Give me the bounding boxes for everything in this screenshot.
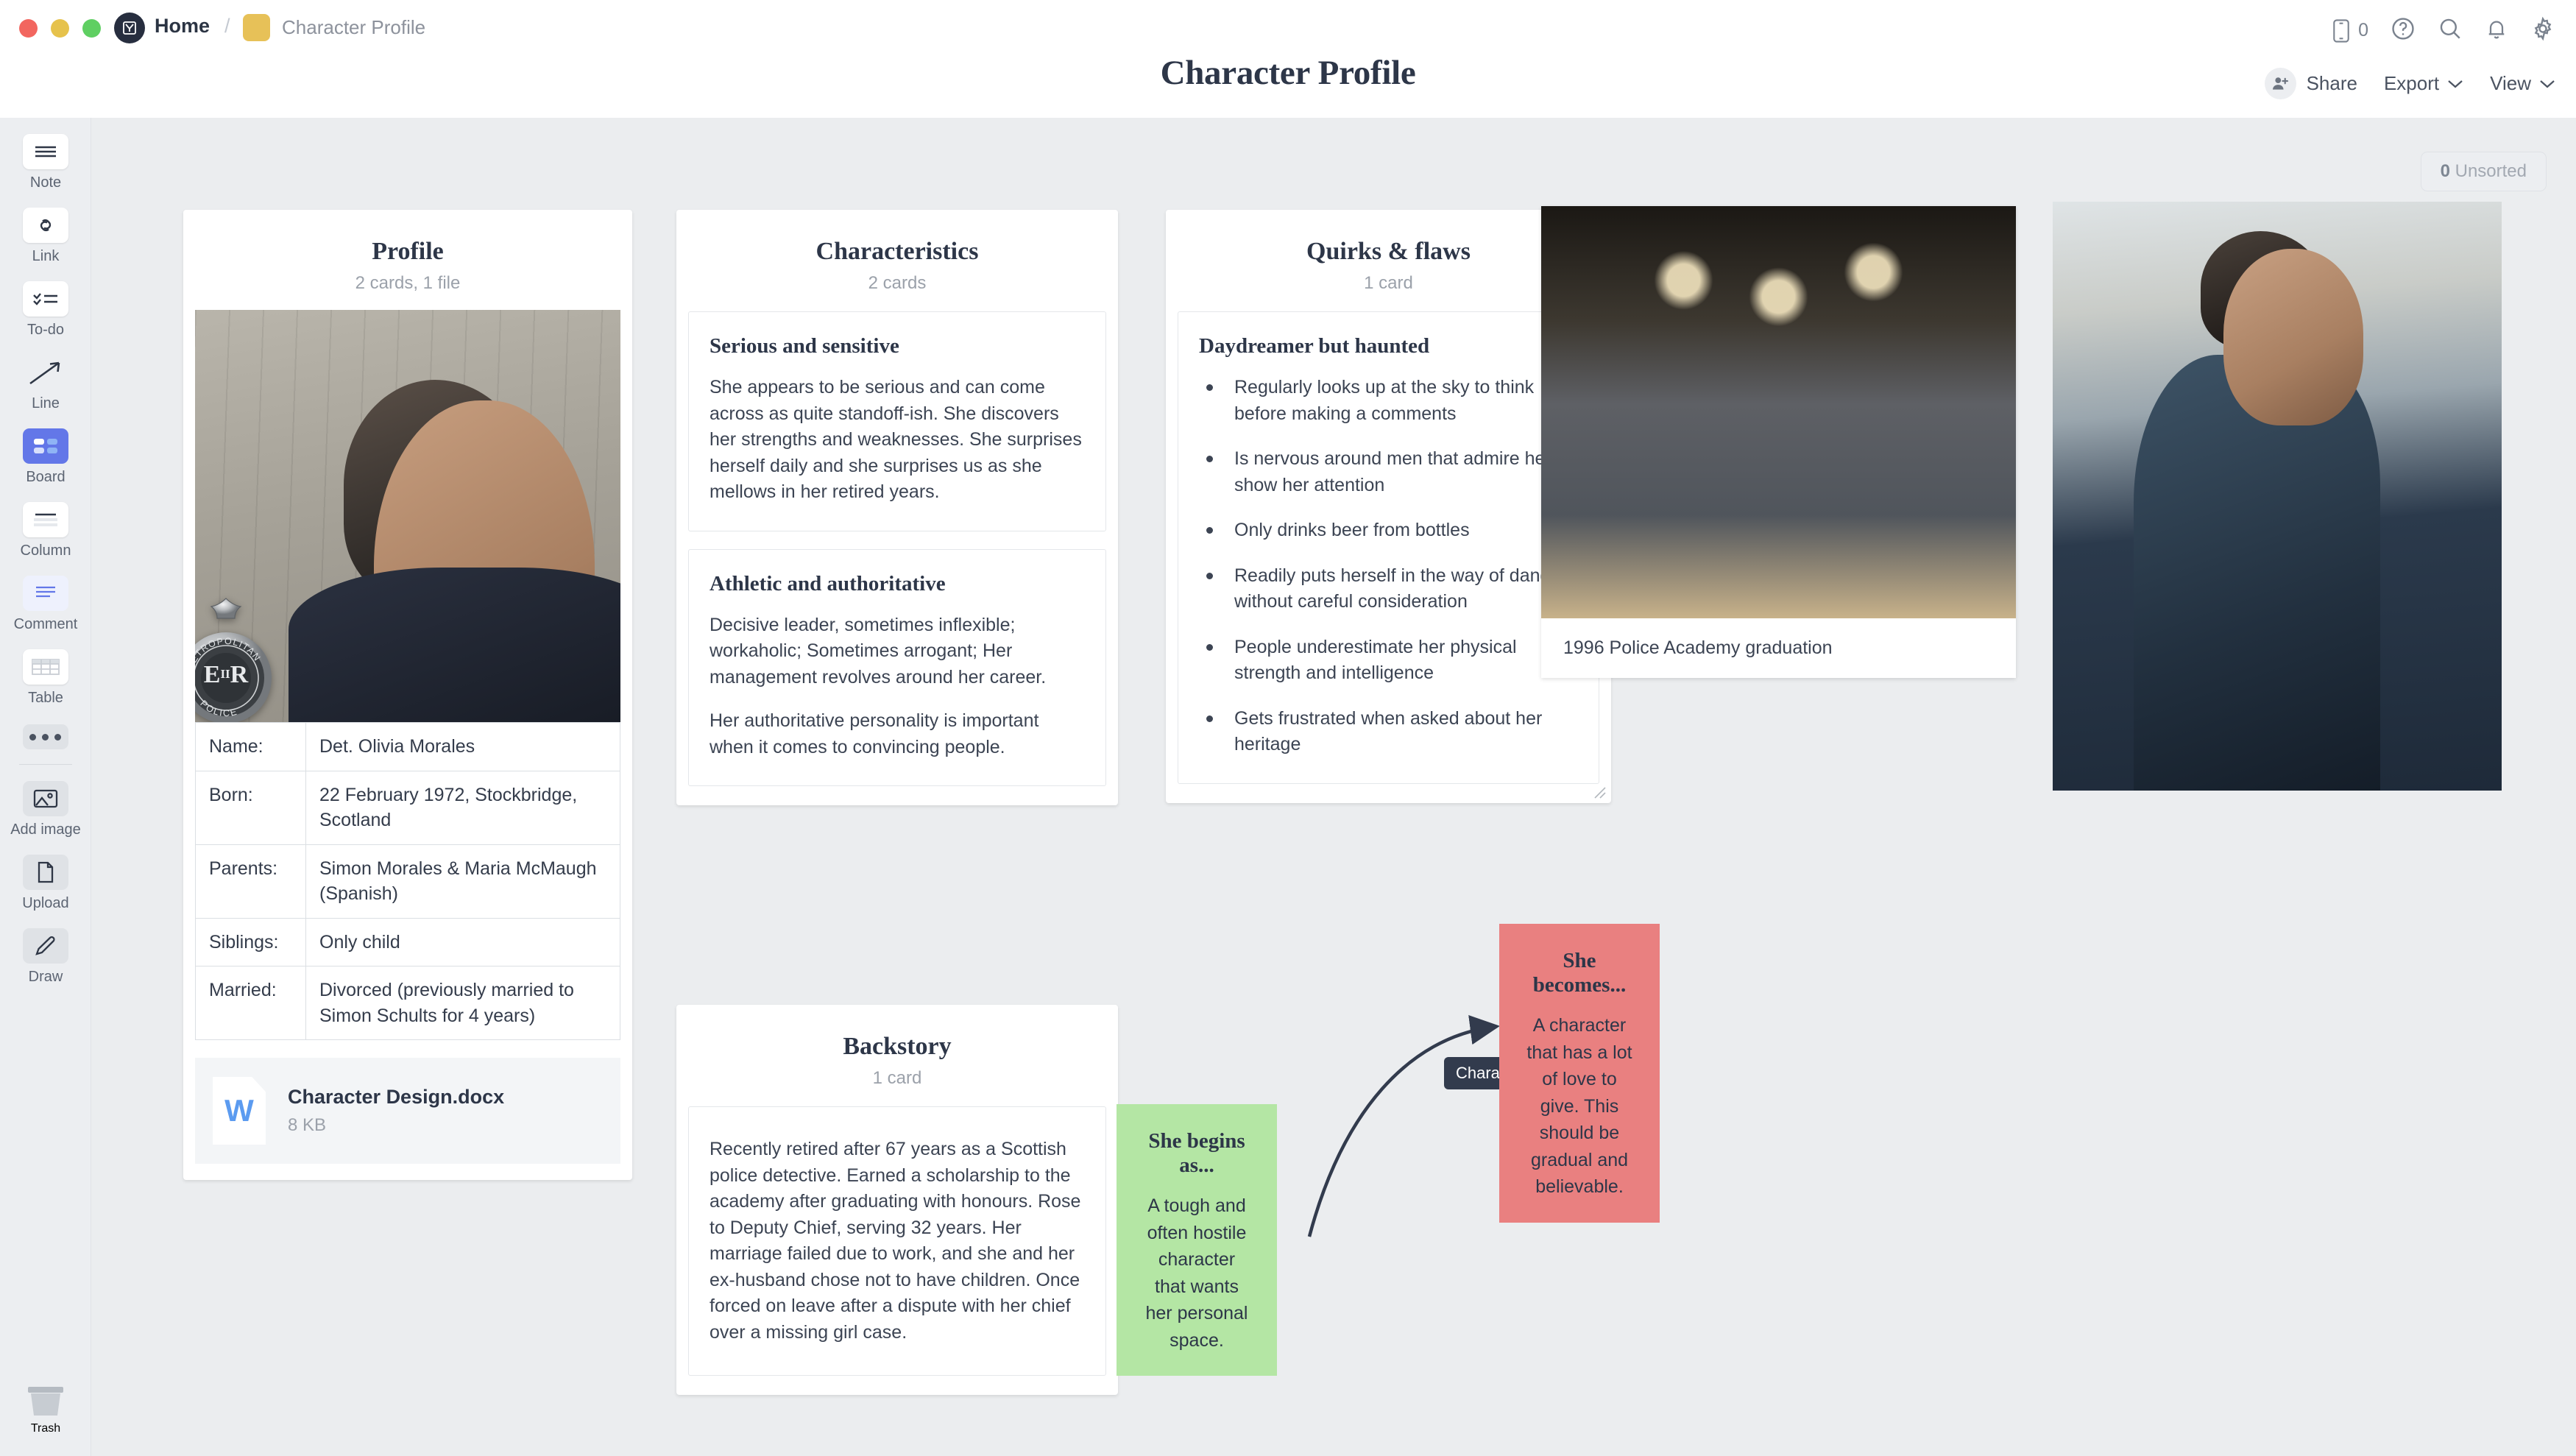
sidebar-label: Column <box>21 543 71 559</box>
pencil-icon <box>23 928 68 964</box>
column-header: Profile 2 cards, 1 file <box>183 210 632 294</box>
sidebar-item-trash[interactable]: Trash <box>0 1382 91 1435</box>
mobile-preview-icon[interactable]: 0 <box>2330 18 2368 43</box>
file-upload-icon <box>23 855 68 890</box>
todo-icon <box>23 281 68 317</box>
line-arrow-icon <box>23 355 68 390</box>
sidebar-item-board[interactable]: Board <box>0 428 91 486</box>
list-item: Is nervous around men that admire her or… <box>1199 446 1578 498</box>
minimize-window-button[interactable] <box>51 19 69 38</box>
column-title: Characteristics <box>676 238 1118 266</box>
photo-shape-uniform <box>289 568 620 722</box>
add-person-icon <box>2265 68 2296 99</box>
page-title: Character Profile <box>0 53 2576 93</box>
sticky-title: She becomes... <box>1524 949 1635 997</box>
sidebar-item-table[interactable]: Table <box>0 649 91 707</box>
trash-label: Trash <box>31 1422 60 1435</box>
sidebar-label: Add image <box>10 821 81 838</box>
image-caption: 1996 Police Academy graduation <box>1541 618 2016 678</box>
sidebar-label: Table <box>28 690 63 707</box>
profile-photo[interactable]: EIIR METROPOLITAN POLICE <box>195 310 620 722</box>
sidebar-item-upload[interactable]: Upload <box>0 855 91 912</box>
sticky-note-she-begins[interactable]: She begins as... A tough and often hosti… <box>1117 1104 1277 1376</box>
search-icon[interactable] <box>2438 16 2463 45</box>
file-name: Character Design.docx <box>288 1086 504 1109</box>
chevron-down-icon <box>2447 79 2463 89</box>
graduation-photo <box>1541 206 2016 618</box>
sidebar-label: To-do <box>27 322 64 339</box>
profile-table: Name: Det. Olivia Morales Born: 22 Febru… <box>195 722 620 1040</box>
left-toolbar: Note Link To-do <box>0 118 91 1456</box>
dot <box>54 734 61 741</box>
table-value[interactable]: 22 February 1972, Stockbridge, Scotland <box>306 771 620 844</box>
list-item: People underestimate her physical streng… <box>1199 635 1578 687</box>
table-key: Married: <box>196 966 306 1040</box>
note-card-paragraph: Decisive leader, sometimes inflexible; w… <box>710 612 1085 691</box>
sticky-body: A tough and often hostile character that… <box>1142 1192 1252 1354</box>
sidebar-item-add-image[interactable]: Add image <box>0 781 91 838</box>
sidebar-label: Upload <box>22 895 68 912</box>
note-icon <box>23 134 68 169</box>
table-row: Parents: Simon Morales & Maria McMaugh (… <box>196 844 620 918</box>
table-key: Parents: <box>196 844 306 918</box>
sidebar-label: Link <box>32 248 60 265</box>
trash-icon <box>24 1382 67 1422</box>
column-icon <box>23 502 68 537</box>
sidebar-item-todo[interactable]: To-do <box>0 281 91 339</box>
table-value[interactable]: Det. Olivia Morales <box>306 723 620 771</box>
table-row: Born: 22 February 1972, Stockbridge, Sco… <box>196 771 620 844</box>
sidebar-item-line[interactable]: Line <box>0 355 91 412</box>
sidebar-label: Line <box>32 395 60 412</box>
list-item: Gets frustrated when asked about her her… <box>1199 706 1578 758</box>
metropolitan-police-badge-icon: EIIR METROPOLITAN POLICE <box>195 590 285 722</box>
note-card[interactable]: Recently retired after 67 years as a Sco… <box>688 1106 1106 1376</box>
header-action-group: Share Export View <box>2265 68 2555 99</box>
help-icon[interactable] <box>2391 16 2416 45</box>
close-window-button[interactable] <box>19 19 38 38</box>
table-key: Siblings: <box>196 918 306 966</box>
sticky-title: She begins as... <box>1142 1129 1252 1178</box>
column-title: Backstory <box>676 1033 1118 1061</box>
sidebar-label: Note <box>30 174 61 191</box>
list-item: Only drinks beer from bottles <box>1199 517 1578 544</box>
table-key: Born: <box>196 771 306 844</box>
note-card-paragraph: Her authoritative personality is importa… <box>710 708 1085 760</box>
breadcrumb-color-swatch <box>243 14 270 41</box>
view-label: View <box>2490 72 2531 95</box>
sidebar-item-note[interactable]: Note <box>0 134 91 191</box>
list-item: Regularly looks up at the sky to think b… <box>1199 375 1578 427</box>
column-backstory[interactable]: Backstory 1 card Recently retired after … <box>676 1005 1118 1395</box>
note-card-title: Serious and sensitive <box>710 334 1085 358</box>
photo-shape-head <box>2223 249 2363 425</box>
sticky-body: A character that has a lot of love to gi… <box>1524 1012 1635 1201</box>
chevron-down-icon <box>2539 79 2555 89</box>
file-size: 8 KB <box>288 1115 504 1136</box>
word-document-icon: W <box>213 1077 266 1145</box>
sidebar-label: Draw <box>29 969 63 986</box>
column-header: Characteristics 2 cards <box>676 210 1118 294</box>
comment-icon <box>23 576 68 611</box>
unsorted-badge[interactable]: 0 Unsorted <box>2421 152 2547 191</box>
breadcrumb-home[interactable]: Home <box>155 15 210 38</box>
note-card-title: Athletic and authoritative <box>710 572 1085 596</box>
list-item: Readily puts herself in the way of dange… <box>1199 563 1578 615</box>
column-header: Backstory 1 card <box>676 1005 1118 1089</box>
share-button[interactable]: Share <box>2265 68 2357 99</box>
column-title: Profile <box>183 238 632 266</box>
officer-photo <box>2053 202 2502 791</box>
file-attachment[interactable]: W Character Design.docx 8 KB <box>195 1058 620 1164</box>
header-icon-group: 0 <box>2330 16 2555 45</box>
sidebar-item-draw[interactable]: Draw <box>0 928 91 986</box>
note-card[interactable]: Athletic and authoritative Decisive lead… <box>688 549 1106 787</box>
device-count: 0 <box>2358 20 2368 41</box>
table-value[interactable]: Divorced (previously married to Simon Sc… <box>306 966 620 1040</box>
table-value[interactable]: Only child <box>306 918 620 966</box>
column-subtitle: 2 cards <box>676 273 1118 294</box>
note-card[interactable]: Daydreamer but haunted Regularly looks u… <box>1178 311 1599 784</box>
view-dropdown[interactable]: View <box>2490 72 2555 95</box>
table-row: Siblings: Only child <box>196 918 620 966</box>
dot <box>42 734 49 741</box>
column-subtitle: 1 card <box>676 1068 1118 1089</box>
maximize-window-button[interactable] <box>82 19 101 38</box>
image-card-officer[interactable] <box>2053 202 2502 791</box>
app-window: Home / Character Profile Character Profi… <box>0 0 2576 1456</box>
share-label: Share <box>2307 72 2357 95</box>
bullet-list: Regularly looks up at the sky to think b… <box>1199 375 1578 758</box>
window-traffic-lights <box>19 19 101 38</box>
note-card-title: Daydreamer but haunted <box>1199 334 1578 358</box>
column-profile[interactable]: Profile 2 cards, 1 file <box>183 210 632 1180</box>
resize-handle[interactable] <box>1590 783 1607 799</box>
sidebar-item-link[interactable]: Link <box>0 208 91 265</box>
table-row: Married: Divorced (previously married to… <box>196 966 620 1040</box>
unsorted-label: Unsorted <box>2455 161 2527 181</box>
breadcrumb-current[interactable]: Character Profile <box>282 16 425 39</box>
settings-gear-icon[interactable] <box>2530 16 2555 45</box>
column-subtitle: 2 cards, 1 file <box>183 273 632 294</box>
table-key: Name: <box>196 723 306 771</box>
toolbar-divider <box>19 764 72 765</box>
sidebar-item-comment[interactable]: Comment <box>0 576 91 633</box>
table-value[interactable]: Simon Morales & Maria McMaugh (Spanish) <box>306 844 620 918</box>
note-card-paragraph: She appears to be serious and can come a… <box>710 375 1085 506</box>
note-card-paragraph: Recently retired after 67 years as a Sco… <box>710 1137 1085 1346</box>
export-dropdown[interactable]: Export <box>2384 72 2463 95</box>
image-icon <box>23 781 68 816</box>
app-logo-icon[interactable] <box>114 13 145 43</box>
table-icon <box>23 649 68 685</box>
unsorted-count: 0 <box>2441 161 2450 181</box>
board-icon <box>23 428 68 464</box>
note-card[interactable]: Serious and sensitive She appears to be … <box>688 311 1106 531</box>
dot <box>29 734 36 741</box>
sidebar-label: Board <box>26 469 65 486</box>
breadcrumb-separator: / <box>224 15 230 38</box>
image-card-graduation[interactable]: 1996 Police Academy graduation <box>1541 206 2016 678</box>
sticky-note-she-becomes[interactable]: She becomes... A character that has a lo… <box>1499 924 1660 1223</box>
sidebar-label: Comment <box>14 616 78 633</box>
link-icon <box>23 208 68 243</box>
table-row: Name: Det. Olivia Morales <box>196 723 620 771</box>
title-bar: Home / Character Profile Character Profi… <box>0 0 2576 118</box>
sidebar-item-column[interactable]: Column <box>0 502 91 559</box>
board-canvas[interactable]: 0 Unsorted Profile 2 cards, 1 file <box>91 118 2576 1456</box>
export-label: Export <box>2384 72 2439 95</box>
more-options-button[interactable] <box>23 724 68 749</box>
column-characteristics[interactable]: Characteristics 2 cards Serious and sens… <box>676 210 1118 805</box>
notifications-icon[interactable] <box>2485 16 2508 45</box>
photo-shape-torso <box>2134 355 2381 791</box>
